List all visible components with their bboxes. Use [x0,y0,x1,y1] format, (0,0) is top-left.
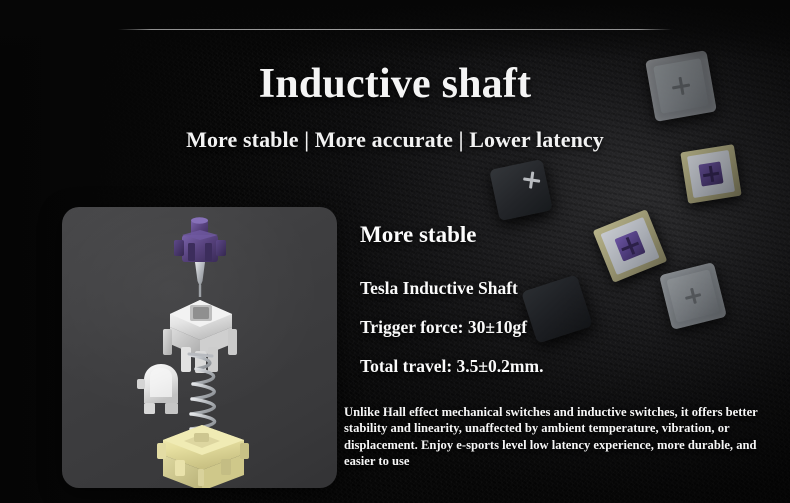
spec-line-product: Tesla Inductive Shaft [360,278,518,299]
part-stem-tip [195,262,205,287]
section-heading: More stable [360,222,476,248]
top-fade-overlay [0,0,790,60]
switch-exploded-diagram [62,207,337,488]
header-divider [118,29,672,30]
page-subtitle: More stable | More accurate | Lower late… [0,127,790,153]
page-title: Inductive shaft [0,60,790,108]
promo-banner: Inductive shaft More stable | More accur… [0,0,790,503]
description-paragraph: Unlike Hall effect mechanical switches a… [344,404,768,470]
part-slider [137,364,178,414]
part-base-housing [157,425,249,488]
spring-top-coil [189,354,212,356]
exploded-view-panel [62,207,337,488]
spec-line-trigger-force: Trigger force: 30±10gf [360,317,527,338]
spec-line-total-travel: Total travel: 3.5±0.2mm. [360,356,543,377]
part-stem [174,217,226,297]
part-top-housing [163,300,237,373]
